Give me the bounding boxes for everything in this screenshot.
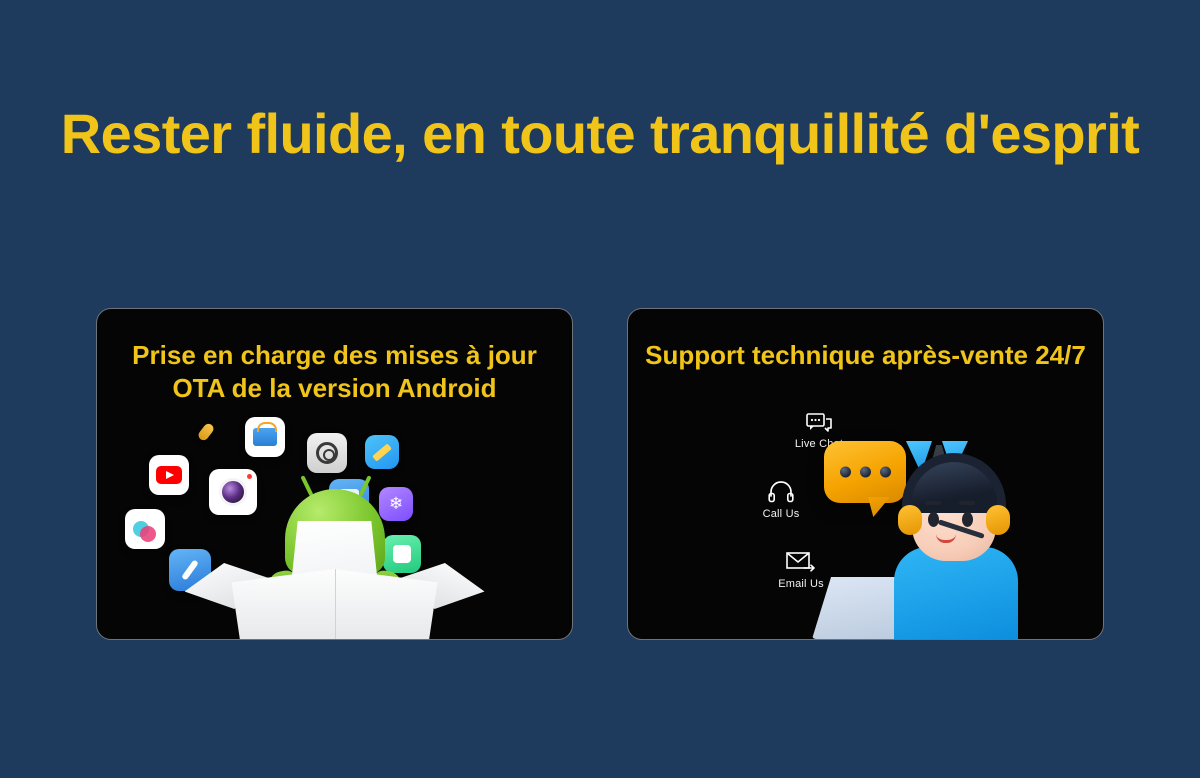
camera-icon (209, 469, 257, 515)
android-illustration: ❄ (97, 407, 572, 639)
feature-card-after-sales-support[interactable]: Support technique après-vente 24/7 Live … (627, 308, 1104, 640)
support-illustration: Live Chat Call Us (628, 407, 1103, 639)
headphones-icon (768, 481, 794, 503)
microphone-icon (193, 419, 219, 445)
ruler-icon (365, 435, 399, 469)
store-icon (245, 417, 285, 457)
support-agent-character (876, 439, 1036, 639)
service-label-call-us: Call Us (734, 508, 828, 520)
feature-cards-row: Prise en charge des mises à jour OTA de … (96, 308, 1104, 640)
service-call-us[interactable]: Call Us (734, 481, 828, 520)
photos-icon (125, 509, 165, 549)
page-title: Rester fluide, en toute tranquillité d'e… (0, 104, 1200, 164)
feature-card-ota-updates[interactable]: Prise en charge des mises à jour OTA de … (96, 308, 573, 640)
email-arrow-icon (786, 551, 816, 573)
settings-icon (307, 433, 347, 473)
chat-bubbles-icon (806, 413, 832, 433)
card-title-after-sales-support: Support technique après-vente 24/7 (628, 339, 1103, 372)
promo-page: Rester fluide, en toute tranquillité d'e… (0, 0, 1200, 778)
open-box (185, 547, 485, 640)
youtube-icon (149, 455, 189, 495)
card-title-ota-updates: Prise en charge des mises à jour OTA de … (97, 339, 572, 405)
